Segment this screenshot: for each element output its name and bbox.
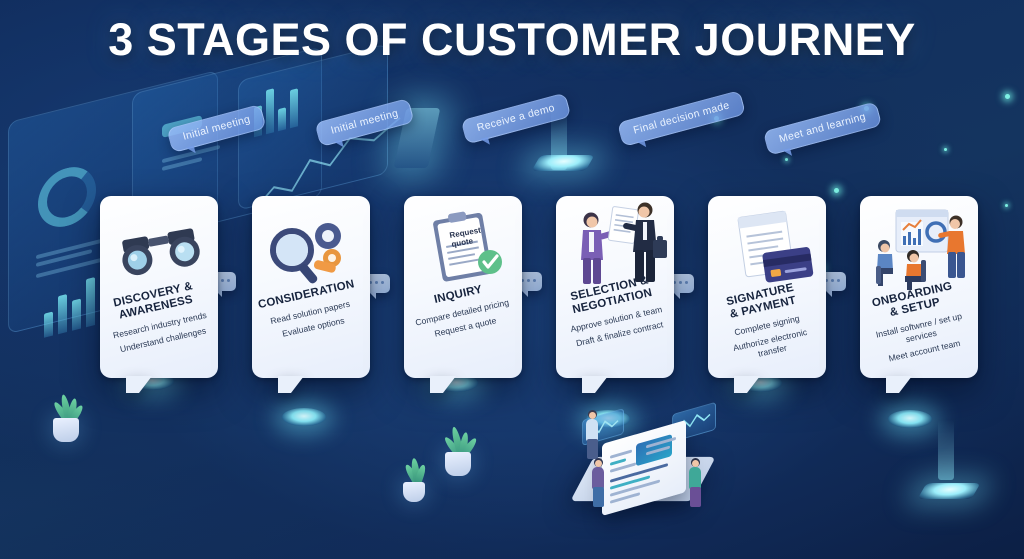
potted-plant-icon [396,452,432,502]
card-tail [430,376,456,393]
potted-plant-icon [44,386,88,442]
stage-card-discovery-awareness[interactable]: DISCOVERY & AWARENESS Research industry … [100,196,218,378]
card-tail [126,376,152,393]
stage-card-selection-negotiation[interactable]: SELECTION & NEGOTIATION Approve solution… [556,196,674,378]
stage-card-onboarding-setup[interactable]: ONBOARDING & SETUP Install softwnre / se… [860,196,978,378]
chip-initial-meeting-1: Initial meeting [166,104,266,153]
potted-plant-icon [436,418,480,476]
page-title: 3 STAGES OF CUSTOMER JOURNEY [0,14,1024,66]
chip-initial-meeting-2: Initial meeting [314,98,414,147]
card-tail [582,376,608,393]
stage-card-inquiry[interactable]: Request quote INQUIRY Compare detailed p… [404,196,522,378]
path-node-pad [888,410,932,428]
chip-meet-and-learning: Meet and learning [763,101,883,155]
isometric-dashboard-icon [566,404,736,544]
chip-final-decision-made: Final decision made [617,90,746,147]
chip-receive-a-demo: Receive a demo [461,92,572,144]
stage-card-consideration[interactable]: CONSIDERATION Read solution papers Evalu… [252,196,370,378]
stage-card-signature-payment[interactable]: SIGNATURE & PAYMENT Complete signing Aut… [708,196,826,378]
infographic-canvas: 3 STAGES OF CUSTOMER JOURNEY Initial mee… [0,0,1024,559]
path-node-pad [282,408,326,426]
card-tail [278,376,304,393]
